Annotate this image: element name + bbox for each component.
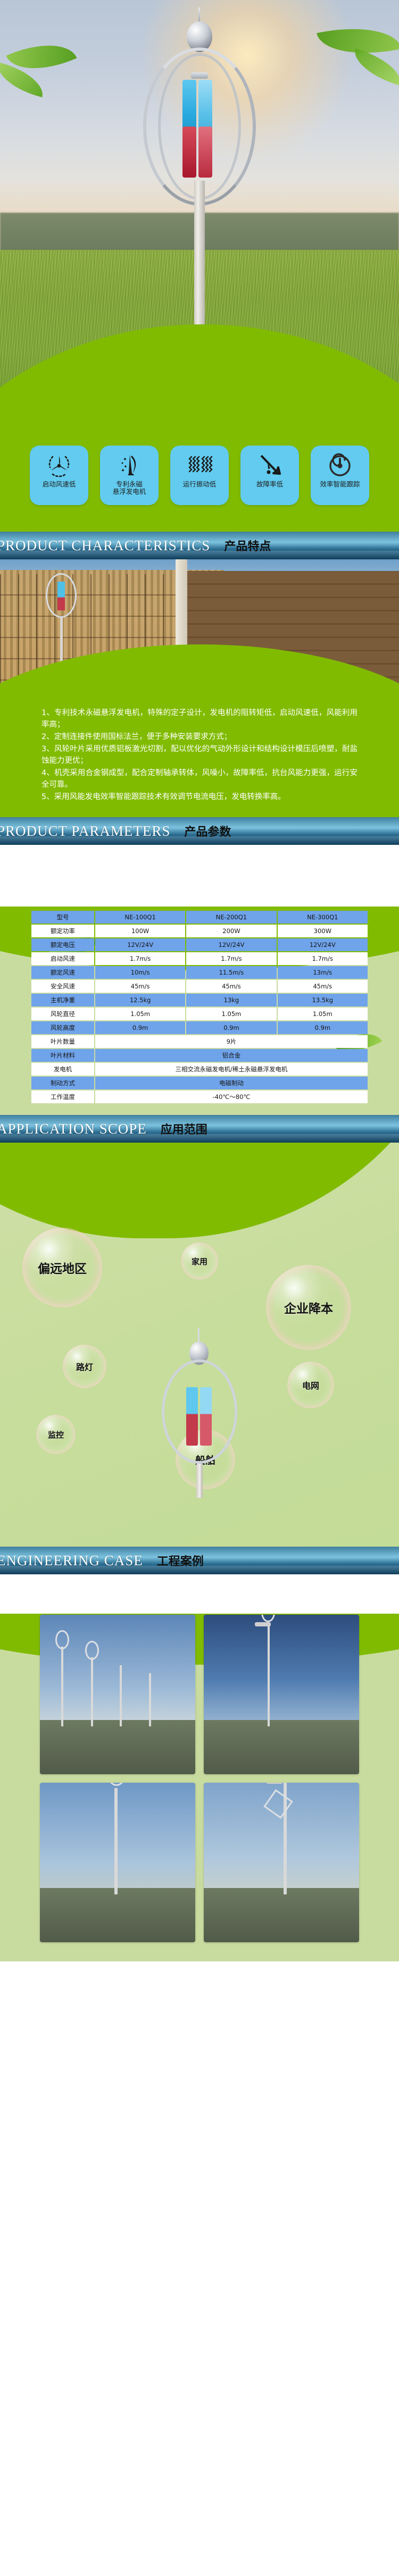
application-bubble[interactable]: 企业降本 [266, 1265, 351, 1350]
case-photo[interactable] [40, 1615, 195, 1774]
table-cell: 三相交流永磁发电机/稀土永磁悬浮发电机 [95, 1063, 368, 1076]
case-photo-lamp-pole [149, 1673, 151, 1726]
table-row-label: 叶片数量 [31, 1035, 94, 1048]
scope-turbine-ring [162, 1360, 237, 1464]
feature-card-low-vibration[interactable]: 运行振动低 [170, 446, 229, 505]
table-cell: 铝合金 [95, 1049, 368, 1062]
banner-title-cn: 产品参数 [184, 823, 231, 840]
case-photo-lamp-head [255, 1622, 271, 1626]
feature-label: 运行振动低 [183, 481, 217, 488]
table-row-label: 制动方式 [31, 1077, 94, 1089]
banner-title-cn: 工程案例 [157, 1552, 204, 1569]
feature-card-start-wind-speed[interactable]: 启动风速低 [30, 446, 88, 505]
table-cell: 13m/s [278, 966, 368, 979]
feature-label: 故障率低 [256, 481, 283, 488]
characteristic-item: 3、风轮叶片采用优质铝板激光切割，配以优化的气动外形设计和结构设计模压后喷塑，耐… [41, 743, 358, 767]
table-cell: NE-200Q1 [186, 911, 276, 924]
table-cell: 45m/s [186, 980, 276, 993]
scope-turbine-blade [186, 1387, 198, 1446]
feature-label: 效率智能跟踪 [320, 481, 360, 488]
table-row-label: 额定功率 [31, 925, 94, 937]
application-scope-section: 偏远地区家用企业降本路灯电网监控船舶 [0, 1143, 399, 1547]
table-row-label: 风轮高度 [31, 1021, 94, 1034]
case-photo-road [40, 1720, 195, 1774]
table-cell: 电磁制动 [95, 1077, 368, 1089]
case-photo-lamp-pole [91, 1657, 93, 1726]
table-row-label: 启动风速 [31, 952, 94, 965]
table-row: 安全风速45m/s45m/s45m/s [31, 980, 368, 993]
turbine-blade-red-left [182, 127, 196, 178]
hero-wind-turbine [136, 21, 263, 319]
case-photo-road [204, 1720, 359, 1774]
application-bubble-label: 企业降本 [284, 1298, 333, 1316]
turbine-hub [191, 72, 208, 79]
feature-card-patent-maglev-generator[interactable]: 专利永磁 悬浮发电机 [100, 446, 159, 505]
case-photo-grid [40, 1615, 359, 1942]
characteristics-photo [0, 559, 399, 703]
case-photo-turbine [55, 1630, 69, 1649]
characteristics-text-block: 1、专利技术永磁悬浮发电机，特殊的定子设计，发电机的阻转矩低，启动风速低，风能利… [0, 703, 399, 817]
fault-down-arrow-icon [255, 450, 284, 480]
case-photo[interactable] [204, 1783, 359, 1942]
specification-table: 型号NE-100Q1NE-200Q1NE-300Q1额定功率100W200W30… [30, 910, 369, 1104]
table-row: 主机净重12.5kg13kg13.5kg [31, 994, 368, 1006]
application-turbine-illustration [154, 1338, 245, 1498]
table-row-label: 风轮直径 [31, 1008, 94, 1020]
section-banner-parameters: PRODUCT PARAMETERS 产品参数 [0, 817, 399, 845]
application-bubble[interactable]: 路灯 [63, 1345, 106, 1388]
feature-card-low-fault-rate[interactable]: 故障率低 [240, 446, 299, 505]
characteristic-item: 1、专利技术永磁悬浮发电机，特殊的定子设计，发电机的阻转矩低，启动风速低，风能利… [41, 707, 358, 731]
table-cell: 1.7m/s [95, 952, 185, 965]
engineering-case-section [0, 1615, 399, 1961]
table-row-label: 工作温度 [31, 1090, 94, 1103]
table-cell: 1.05m [95, 1008, 185, 1020]
table-cell: 9片 [95, 1035, 368, 1048]
table-row: 额定电压12V/24V12V/24V12V/24V [31, 938, 368, 951]
application-green-curve [0, 1143, 399, 1238]
application-bubble-label: 电网 [302, 1379, 319, 1391]
table-row: 额定风速10m/s11.5m/s13m/s [31, 966, 368, 979]
table-cell: 0.9m [95, 1021, 185, 1034]
case-photo[interactable] [40, 1783, 195, 1942]
feature-icon-row: 启动风速低 专利永磁 悬浮发电机 [0, 446, 399, 509]
turbine-blade-red-right [198, 127, 212, 178]
banner-title-cn: 应用范围 [161, 1120, 207, 1137]
table-cell: 300W [278, 925, 368, 937]
case-photo-lamp-pole [114, 1788, 118, 1894]
application-bubble[interactable]: 监控 [36, 1415, 76, 1454]
table-row: 启动风速1.7m/s1.7m/s1.7m/s [31, 952, 368, 965]
table-cell: 100W [95, 925, 185, 937]
case-photo-turbine [85, 1641, 99, 1660]
case-photo-road [204, 1888, 359, 1942]
table-cell: 1.05m [186, 1008, 276, 1020]
table-cell: 12V/24V [186, 938, 276, 951]
application-bubble[interactable]: 家用 [181, 1243, 218, 1280]
magnet-levitation-icon [115, 450, 144, 480]
application-bubble-label: 路灯 [76, 1360, 93, 1373]
table-cell: 0.9m [278, 1021, 368, 1034]
table-cell: 200W [186, 925, 276, 937]
table-row: 制动方式电磁制动 [31, 1077, 368, 1089]
table-cell: 1.7m/s [186, 952, 276, 965]
table-cell: NE-300Q1 [278, 911, 368, 924]
case-photo-lamp-head [267, 1783, 282, 1784]
table-row: 工作温度-40℃～80℃ [31, 1090, 368, 1103]
table-row: 型号NE-100Q1NE-200Q1NE-300Q1 [31, 911, 368, 924]
table-cell: 12V/24V [278, 938, 368, 951]
table-row-label: 安全风速 [31, 980, 94, 993]
table-row-label: 型号 [31, 911, 94, 924]
efficiency-target-icon [326, 450, 354, 480]
product-detail-page: 启动风速低 专利永磁 悬浮发电机 [0, 0, 399, 2576]
table-cell: 13kg [186, 994, 276, 1006]
vibration-waves-icon [185, 450, 214, 480]
turbine-pole [194, 181, 205, 340]
case-photo-lamp-pole [268, 1625, 270, 1726]
case-photo-lamp-pole [61, 1647, 63, 1726]
characteristic-item: 4、机壳采用合金钢成型，配合定制轴承转体，风噪小，故障率低，抗台风能力更强，运行… [41, 767, 358, 791]
characteristic-item: 5、采用风能发电效率智能跟踪技术有效调节电流电压，发电转换率高。 [41, 791, 358, 803]
table-row-label: 叶片材料 [31, 1049, 94, 1062]
application-bubble-label: 监控 [48, 1429, 64, 1440]
table-cell: 45m/s [95, 980, 185, 993]
case-photo[interactable] [204, 1615, 359, 1774]
table-row-label: 发电机 [31, 1063, 94, 1076]
section-banner-application: APPLICATION SCOPE 应用范围 [0, 1115, 399, 1143]
feature-label: 专利永磁 悬浮发电机 [113, 481, 146, 496]
table-row: 叶片材料铝合金 [31, 1049, 368, 1062]
characteristic-item: 2、定制连接件使用国标法兰，便于多种安装要求方式； [41, 731, 358, 743]
table-cell: NE-100Q1 [95, 911, 185, 924]
scope-turbine-pole [196, 1464, 203, 1498]
section-banner-characteristics: PRODUCT CHARACTERISTICS 产品特点 [0, 532, 399, 559]
table-cell: 12V/24V [95, 938, 185, 951]
hero-banner: 启动风速低 专利永磁 悬浮发电机 [0, 0, 399, 532]
banner-title-en: ENGINEERING CASE [0, 1553, 143, 1569]
application-bubble[interactable]: 电网 [287, 1362, 334, 1408]
banner-title-en: PRODUCT PARAMETERS [0, 823, 170, 840]
table-row: 发电机三相交流永磁发电机/稀土永磁悬浮发电机 [31, 1063, 368, 1076]
table-cell: 13.5kg [278, 994, 368, 1006]
application-bubble-label: 家用 [192, 1256, 207, 1267]
case-photo-lamp-pole [120, 1665, 122, 1726]
application-bubble-label: 偏远地区 [38, 1258, 87, 1277]
table-row-label: 额定风速 [31, 966, 94, 979]
table-row: 风轮直径1.05m1.05m1.05m [31, 1008, 368, 1020]
banner-title-en: PRODUCT CHARACTERISTICS [0, 538, 210, 554]
photo-turbine-blade [57, 582, 65, 610]
table-cell: 0.9m [186, 1021, 276, 1034]
table-cell: 45m/s [278, 980, 368, 993]
parameters-section: 型号NE-100Q1NE-200Q1NE-300Q1额定功率100W200W30… [0, 910, 399, 1115]
table-row-label: 额定电压 [31, 938, 94, 951]
table-row-label: 主机净重 [31, 994, 94, 1006]
feature-card-efficiency-tracking[interactable]: 效率智能跟踪 [311, 446, 369, 505]
table-cell: 12.5kg [95, 994, 185, 1006]
case-photo-road [40, 1888, 195, 1942]
table-row: 叶片数量9片 [31, 1035, 368, 1048]
table-cell: 11.5m/s [186, 966, 276, 979]
banner-title-cn: 产品特点 [224, 537, 271, 554]
scope-turbine-blade [200, 1387, 212, 1446]
photo-turbine-lamp [43, 565, 80, 634]
application-bubble[interactable]: 偏远地区 [22, 1228, 102, 1307]
table-row: 风轮高度0.9m0.9m0.9m [31, 1021, 368, 1034]
table-cell: 1.05m [278, 1008, 368, 1020]
section-banner-engineering: ENGINEERING CASE 工程案例 [0, 1547, 399, 1574]
table-cell: -40℃～80℃ [95, 1090, 368, 1103]
table-row: 额定功率100W200W300W [31, 925, 368, 937]
wind-turbine-icon [45, 450, 73, 480]
table-cell: 10m/s [95, 966, 185, 979]
scope-turbine-spike [198, 1328, 199, 1341]
banner-title-en: APPLICATION SCOPE [0, 1121, 147, 1137]
feature-label: 启动风速低 [43, 481, 76, 488]
table-cell: 1.7m/s [278, 952, 368, 965]
